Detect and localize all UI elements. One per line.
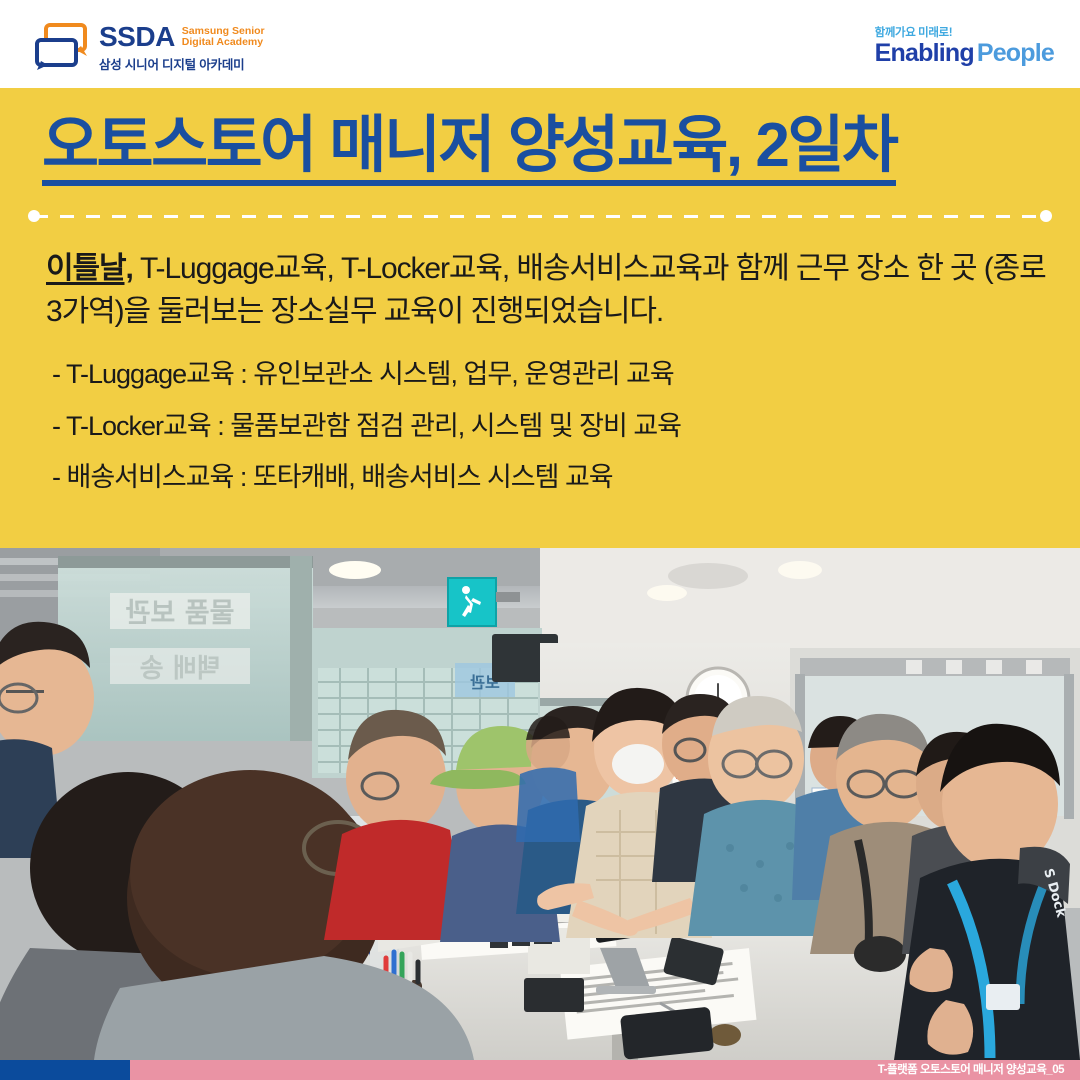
- enabling-people-tagline: 함께가요 미래로!: [875, 24, 1054, 40]
- svg-text:택배 송: 택배 송: [140, 654, 221, 684]
- ssda-acronym: SSDA: [99, 23, 175, 51]
- photo-illustration: 물품 보관 택배 송 보관: [0, 548, 1080, 1060]
- infographic-card: SSDA Samsung Senior Digital Academy 삼성 시…: [0, 0, 1080, 1080]
- lead-paragraph: 이틀날, T-Luggage교육, T-Locker교육, 배송서비스교육과 함…: [46, 248, 1046, 333]
- footer-bar: T-플랫폼 오토스토어 매니저 양성교육_05: [0, 1060, 1080, 1080]
- training-photo: 물품 보관 택배 송 보관: [0, 548, 1080, 1060]
- bullet-list: - T-Luggage교육 : 유인보관소 시스템, 업무, 운영관리 교육 -…: [52, 360, 1052, 515]
- speech-bubbles-icon: [32, 22, 90, 70]
- divider-dot-right: [1040, 210, 1052, 222]
- ssda-english-name: Samsung Senior Digital Academy: [182, 26, 265, 52]
- header-bar: SSDA Samsung Senior Digital Academy 삼성 시…: [0, 0, 1080, 88]
- ssda-korean-name: 삼성 시니어 디지털 아카데미: [99, 54, 265, 73]
- yellow-content-panel: 오토스토어 매니저 양성교육, 2일차 이틀날, T-Luggage교육, T-…: [0, 88, 1080, 548]
- footer-caption: T-플랫폼 오토스토어 매니저 양성교육_05: [878, 1060, 1064, 1080]
- lead-highlight: 이틀날,: [46, 252, 133, 285]
- enabling-word: Enabling: [875, 39, 974, 67]
- list-item: - 배송서비스교육 : 또타캐배, 배송서비스 시스템 교육: [52, 463, 1052, 493]
- footer-accent-block: [0, 1060, 130, 1080]
- ssda-logo: SSDA Samsung Senior Digital Academy 삼성 시…: [32, 22, 265, 73]
- divider-dash-line: [34, 215, 1046, 218]
- lead-body: T-Luggage교육, T-Locker교육, 배송서비스교육과 함께 근무 …: [46, 252, 1046, 328]
- enabling-people-logo: 함께가요 미래로! EnablingPeople: [875, 24, 1054, 66]
- list-item: - T-Luggage교육 : 유인보관소 시스템, 업무, 운영관리 교육: [52, 360, 1052, 390]
- dashed-divider: [28, 210, 1052, 222]
- svg-text:물품 보관: 물품 보관: [125, 598, 234, 629]
- page-title: 오토스토어 매니저 양성교육, 2일차: [42, 113, 896, 186]
- enabling-people-wordmark: EnablingPeople: [875, 41, 1054, 66]
- ssda-wordmark: SSDA Samsung Senior Digital Academy 삼성 시…: [99, 22, 265, 73]
- list-item: - T-Locker교육 : 물품보관함 점검 관리, 시스템 및 장비 교육: [52, 412, 1052, 442]
- people-word: People: [974, 39, 1054, 67]
